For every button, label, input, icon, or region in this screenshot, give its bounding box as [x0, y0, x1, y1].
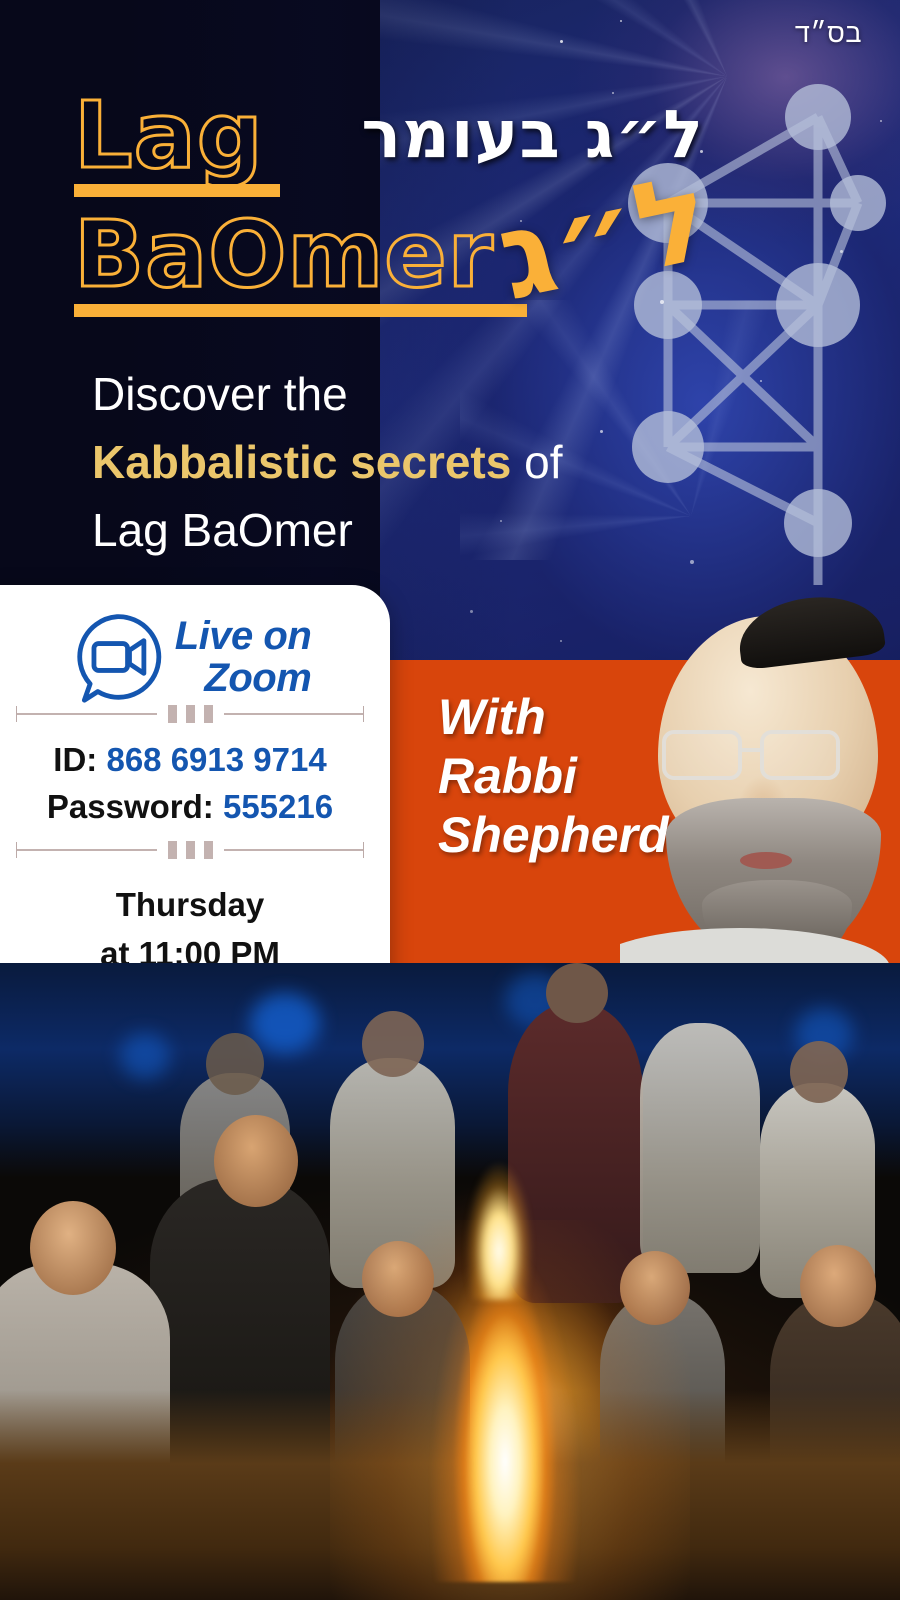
- tagline-line-2-suffix: of: [511, 436, 562, 488]
- zoom-video-icon: [69, 609, 165, 705]
- tagline-highlight: Kabbalistic secrets: [92, 436, 511, 488]
- zoom-id-label: ID:: [53, 741, 97, 778]
- tagline-line-3: Lag BaOmer: [92, 496, 652, 564]
- schedule-day: Thursday: [8, 881, 372, 930]
- live-on-line-2: Zoom: [175, 657, 312, 699]
- tagline-line-2: Kabbalistic secrets of: [92, 428, 652, 496]
- zoom-password-value[interactable]: 555216: [223, 788, 333, 825]
- rabbi-portrait: [620, 580, 900, 963]
- zoom-id-row: ID: 868 6913 9714: [8, 737, 372, 784]
- bonfire-photo: [0, 963, 900, 1600]
- live-on-zoom-label: Live on Zoom: [175, 615, 312, 700]
- zoom-id-value[interactable]: 868 6913 9714: [106, 741, 326, 778]
- bsd-text: בס״ד: [795, 18, 862, 49]
- divider-top: [16, 705, 364, 723]
- zoom-credentials: ID: 868 6913 9714 Password: 555216: [8, 723, 372, 841]
- lag-baomer-flyer: בס״ד Lag BaOmer ל״ג בעומר ל״ג Discover t…: [0, 0, 900, 1600]
- live-on-line-1: Live on: [175, 615, 312, 657]
- tagline: Discover the Kabbalistic secrets of Lag …: [92, 360, 652, 564]
- zoom-password-row: Password: 555216: [8, 784, 372, 831]
- zoom-branding: Live on Zoom: [8, 585, 372, 705]
- logo-line-2: BaOmer: [74, 211, 544, 299]
- divider-bottom: [16, 841, 364, 859]
- tagline-line-1: Discover the: [92, 360, 652, 428]
- zoom-password-label: Password:: [47, 788, 214, 825]
